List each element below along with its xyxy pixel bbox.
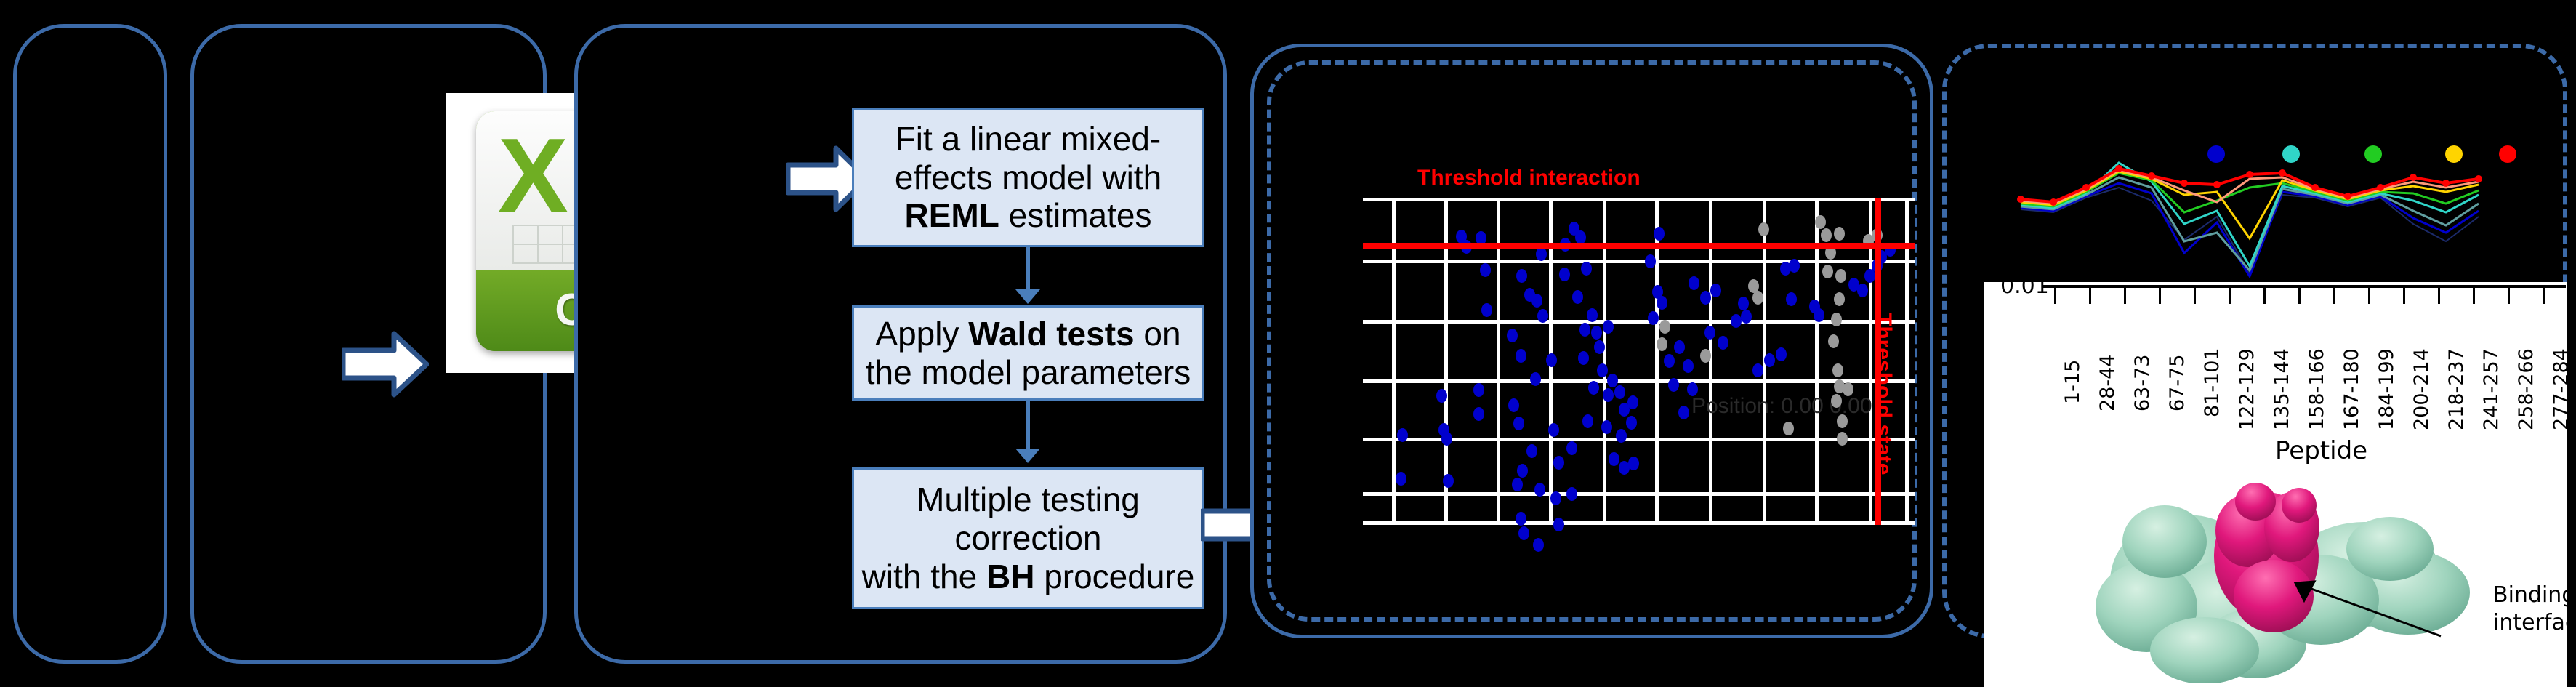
x-tick-label: 277-284 bbox=[2550, 348, 2567, 430]
scatter-point bbox=[1664, 354, 1675, 368]
scatter-point bbox=[1480, 263, 1491, 277]
peptide-line-chart bbox=[2013, 131, 2508, 284]
x-tick-label: 63-73 bbox=[2131, 355, 2154, 411]
scatter-point bbox=[1516, 349, 1526, 363]
scatter-point bbox=[1553, 456, 1564, 470]
x-axis-tick bbox=[2403, 288, 2405, 304]
scatter-point bbox=[1834, 227, 1845, 241]
threshold-state-label: Threshold state bbox=[1871, 313, 1896, 475]
scatter-point bbox=[1783, 422, 1794, 435]
x-axis-tick bbox=[2089, 288, 2091, 304]
scatter-point bbox=[1659, 320, 1670, 334]
scatter-point bbox=[1626, 416, 1637, 430]
scatter-point bbox=[1603, 388, 1614, 402]
scatter-point bbox=[1526, 444, 1537, 458]
scatter-point bbox=[1832, 363, 1843, 377]
scatter-point bbox=[1627, 395, 1638, 409]
x-axis-tick bbox=[2543, 288, 2545, 304]
scatter-point bbox=[1700, 349, 1711, 363]
binding-interface-annotation: Binding interface bbox=[2493, 582, 2567, 636]
scatter-point bbox=[1517, 464, 1528, 478]
scatter-plot: Position: 0.00 0.00 bbox=[1363, 198, 1915, 525]
scatter-point bbox=[1588, 381, 1599, 395]
scatter-point bbox=[1436, 389, 1447, 403]
scatter-point bbox=[1828, 334, 1839, 348]
scatter-point bbox=[1597, 363, 1608, 377]
step-wald-bold: Wald tests bbox=[968, 315, 1134, 353]
scatter-point bbox=[1835, 269, 1846, 283]
scatter-point bbox=[1710, 284, 1721, 297]
protein-structure-image bbox=[2077, 473, 2484, 683]
scatter-point bbox=[1704, 326, 1715, 340]
scatter-point bbox=[1687, 382, 1698, 396]
x-tick-label: 28-44 bbox=[2096, 355, 2119, 411]
scatter-point bbox=[1752, 291, 1763, 305]
scatter-point bbox=[1397, 428, 1408, 442]
scatter-point bbox=[1654, 227, 1665, 241]
scatter-point bbox=[1657, 296, 1667, 310]
x-axis-tick bbox=[2194, 288, 2196, 304]
legend-dot-blue bbox=[2207, 145, 2225, 163]
scatter-point bbox=[1530, 372, 1541, 386]
scatter-point bbox=[1821, 228, 1832, 242]
x-tick-label: 258-266 bbox=[2515, 348, 2537, 430]
x-axis-tick bbox=[2263, 288, 2266, 304]
x-tick-label: 241-257 bbox=[2480, 348, 2503, 430]
scatter-point bbox=[1531, 294, 1542, 308]
step-bh-line2: correction bbox=[955, 519, 1102, 557]
scatter-point bbox=[1546, 353, 1557, 367]
scatter-point bbox=[1587, 308, 1598, 322]
step-bh-bold: BH bbox=[986, 558, 1034, 595]
scatter-point bbox=[1786, 292, 1797, 306]
scatter-point bbox=[1537, 309, 1548, 323]
connector-wald-to-bh bbox=[1026, 401, 1030, 450]
scatter-point bbox=[1831, 313, 1842, 326]
scatter-point bbox=[1578, 351, 1589, 365]
step-fit-model-reml: REML bbox=[905, 196, 999, 234]
scatter-point bbox=[1700, 291, 1711, 305]
scatter-point bbox=[1553, 518, 1564, 531]
x-tick-label: 135-144 bbox=[2271, 348, 2293, 430]
scatter-point bbox=[1508, 398, 1519, 412]
scatter-point bbox=[1534, 483, 1545, 497]
x-axis-tick bbox=[2298, 288, 2301, 304]
scatter-point bbox=[1674, 340, 1685, 354]
scatter-point bbox=[1678, 406, 1689, 419]
scatter-point bbox=[1789, 259, 1800, 273]
scatter-point bbox=[1668, 378, 1679, 392]
scatter-point bbox=[1473, 407, 1484, 421]
scatter-point bbox=[1443, 474, 1454, 488]
scatter-point bbox=[1645, 254, 1656, 268]
peptide-figure: 0.01 1-15 28-44 63-73 67-75 81-101 122-1… bbox=[1984, 282, 2567, 687]
step-fit-model-line1: Fit a linear mixed- bbox=[895, 120, 1162, 158]
scatter-point bbox=[1473, 383, 1484, 397]
legend-dot-red bbox=[2499, 145, 2516, 163]
step-bh-line3pre: with the bbox=[862, 558, 986, 595]
scatter-point bbox=[1581, 262, 1592, 276]
x-axis-tick bbox=[2124, 288, 2126, 304]
scatter-point bbox=[1579, 323, 1590, 337]
connector-fit-to-wald-head bbox=[1015, 289, 1040, 304]
scatter-point bbox=[1741, 310, 1752, 324]
scatter-point bbox=[1594, 340, 1605, 354]
x-axis-tick bbox=[2333, 288, 2335, 304]
scatter-point bbox=[1738, 297, 1749, 310]
data-input-panel bbox=[13, 24, 167, 664]
scatter-point bbox=[1822, 265, 1833, 278]
scatter-point bbox=[1591, 326, 1602, 340]
scatter-point bbox=[1481, 303, 1492, 317]
scatter-point bbox=[1518, 526, 1529, 540]
arrow-to-csv bbox=[342, 331, 429, 398]
step-wald-post: on bbox=[1135, 315, 1181, 353]
x-tick-label: 158-166 bbox=[2306, 348, 2328, 430]
x-tick-label: 122-129 bbox=[2236, 348, 2258, 430]
x-tick-label: 218-237 bbox=[2445, 348, 2468, 430]
x-tick-label: 184-199 bbox=[2375, 348, 2398, 430]
x-tick-label: 167-180 bbox=[2340, 348, 2363, 430]
scatter-point bbox=[1566, 441, 1577, 455]
scatter-point bbox=[1683, 359, 1694, 373]
scatter-point bbox=[1834, 292, 1845, 306]
scatter-point bbox=[1559, 268, 1570, 281]
step-bh-line3post: procedure bbox=[1034, 558, 1194, 595]
scatter-point bbox=[1550, 491, 1561, 505]
x-axis-title: Peptide bbox=[2275, 436, 2367, 465]
scatter-point bbox=[1601, 420, 1612, 434]
scatter-point bbox=[1752, 363, 1763, 377]
scatter-point bbox=[1776, 347, 1787, 361]
scatter-point bbox=[1614, 385, 1625, 399]
x-axis-tick bbox=[2508, 288, 2510, 304]
x-axis-tick bbox=[2159, 288, 2161, 304]
scatter-point bbox=[1837, 432, 1848, 446]
x-axis-tick bbox=[2473, 288, 2475, 304]
threshold-interaction-line bbox=[1363, 243, 1915, 249]
legend-dot-green bbox=[2364, 145, 2382, 163]
threshold-interaction-label: Threshold interaction bbox=[1417, 166, 1641, 190]
scatter-point bbox=[1533, 538, 1544, 552]
step-wald-pre: Apply bbox=[875, 315, 968, 353]
legend-dot-cyan bbox=[2282, 145, 2300, 163]
scatter-point bbox=[1572, 290, 1583, 304]
peptide-line-chart-svg bbox=[2013, 131, 2508, 284]
connector-fit-to-wald bbox=[1026, 247, 1030, 292]
scatter-point bbox=[1607, 374, 1618, 387]
scatter-point bbox=[1396, 472, 1406, 486]
x-axis-tick bbox=[2368, 288, 2370, 304]
x-tick-label: 67-75 bbox=[2166, 355, 2189, 411]
step-fit-model-line3rest: estimates bbox=[999, 196, 1152, 234]
x-axis-tick bbox=[2229, 288, 2231, 304]
legend-dot-yellow bbox=[2445, 145, 2463, 163]
scatter-point bbox=[1648, 311, 1659, 325]
scatter-point bbox=[1857, 284, 1868, 297]
scatter-point bbox=[1814, 308, 1824, 322]
x-tick-label: 1-15 bbox=[2061, 360, 2084, 404]
scatter-point bbox=[1566, 487, 1577, 501]
x-tick-label: 200-214 bbox=[2410, 348, 2433, 430]
scatter-point bbox=[1815, 215, 1826, 229]
scatter-point bbox=[1764, 353, 1775, 367]
x-axis-ticklabels: 1-15 28-44 63-73 67-75 81-101 122-129 13… bbox=[1984, 282, 2567, 427]
excel-x-glyph: X bbox=[498, 123, 568, 228]
step-bh-line1: Multiple testing bbox=[917, 481, 1140, 518]
scatter-point bbox=[1512, 478, 1523, 491]
scatter-point bbox=[1628, 457, 1639, 470]
scatter-point bbox=[1731, 314, 1742, 328]
scatter-point bbox=[1758, 222, 1769, 236]
step-wald-tests: Apply Wald tests on the model parameters bbox=[852, 305, 1204, 401]
x-axis-tick bbox=[2438, 288, 2440, 304]
scatter-point bbox=[1516, 512, 1526, 526]
scatter-point bbox=[1843, 382, 1853, 396]
step-bh-correction: Multiple testing correction with the BH … bbox=[852, 467, 1204, 609]
connector-wald-to-bh-head bbox=[1015, 449, 1040, 463]
binding-interface-line1: Binding bbox=[2493, 582, 2567, 609]
x-tick-label: 81-101 bbox=[2201, 347, 2223, 417]
scatter-point bbox=[1837, 414, 1848, 428]
scatter-point bbox=[1516, 269, 1527, 283]
scatter-point bbox=[1609, 452, 1619, 466]
step-fit-model-line2: effects model with bbox=[895, 158, 1162, 196]
scatter-point bbox=[1507, 329, 1518, 342]
scatter-point bbox=[1689, 276, 1699, 290]
binding-interface-line2: interface bbox=[2493, 609, 2567, 637]
scatter-point bbox=[1831, 394, 1842, 408]
scatter-point bbox=[1548, 423, 1559, 437]
scatter-point bbox=[1718, 336, 1728, 350]
scatter-point bbox=[1582, 414, 1593, 428]
scatter-point bbox=[1513, 417, 1524, 430]
x-axis-tick bbox=[2054, 288, 2056, 304]
step-wald-line2: the model parameters bbox=[866, 353, 1191, 391]
scatter-point bbox=[1657, 337, 1667, 351]
scatter-point bbox=[1603, 320, 1614, 334]
step-fit-model: Fit a linear mixed- effects model with R… bbox=[852, 108, 1204, 247]
scatter-point bbox=[1438, 423, 1449, 437]
scatter-point bbox=[1616, 429, 1627, 443]
